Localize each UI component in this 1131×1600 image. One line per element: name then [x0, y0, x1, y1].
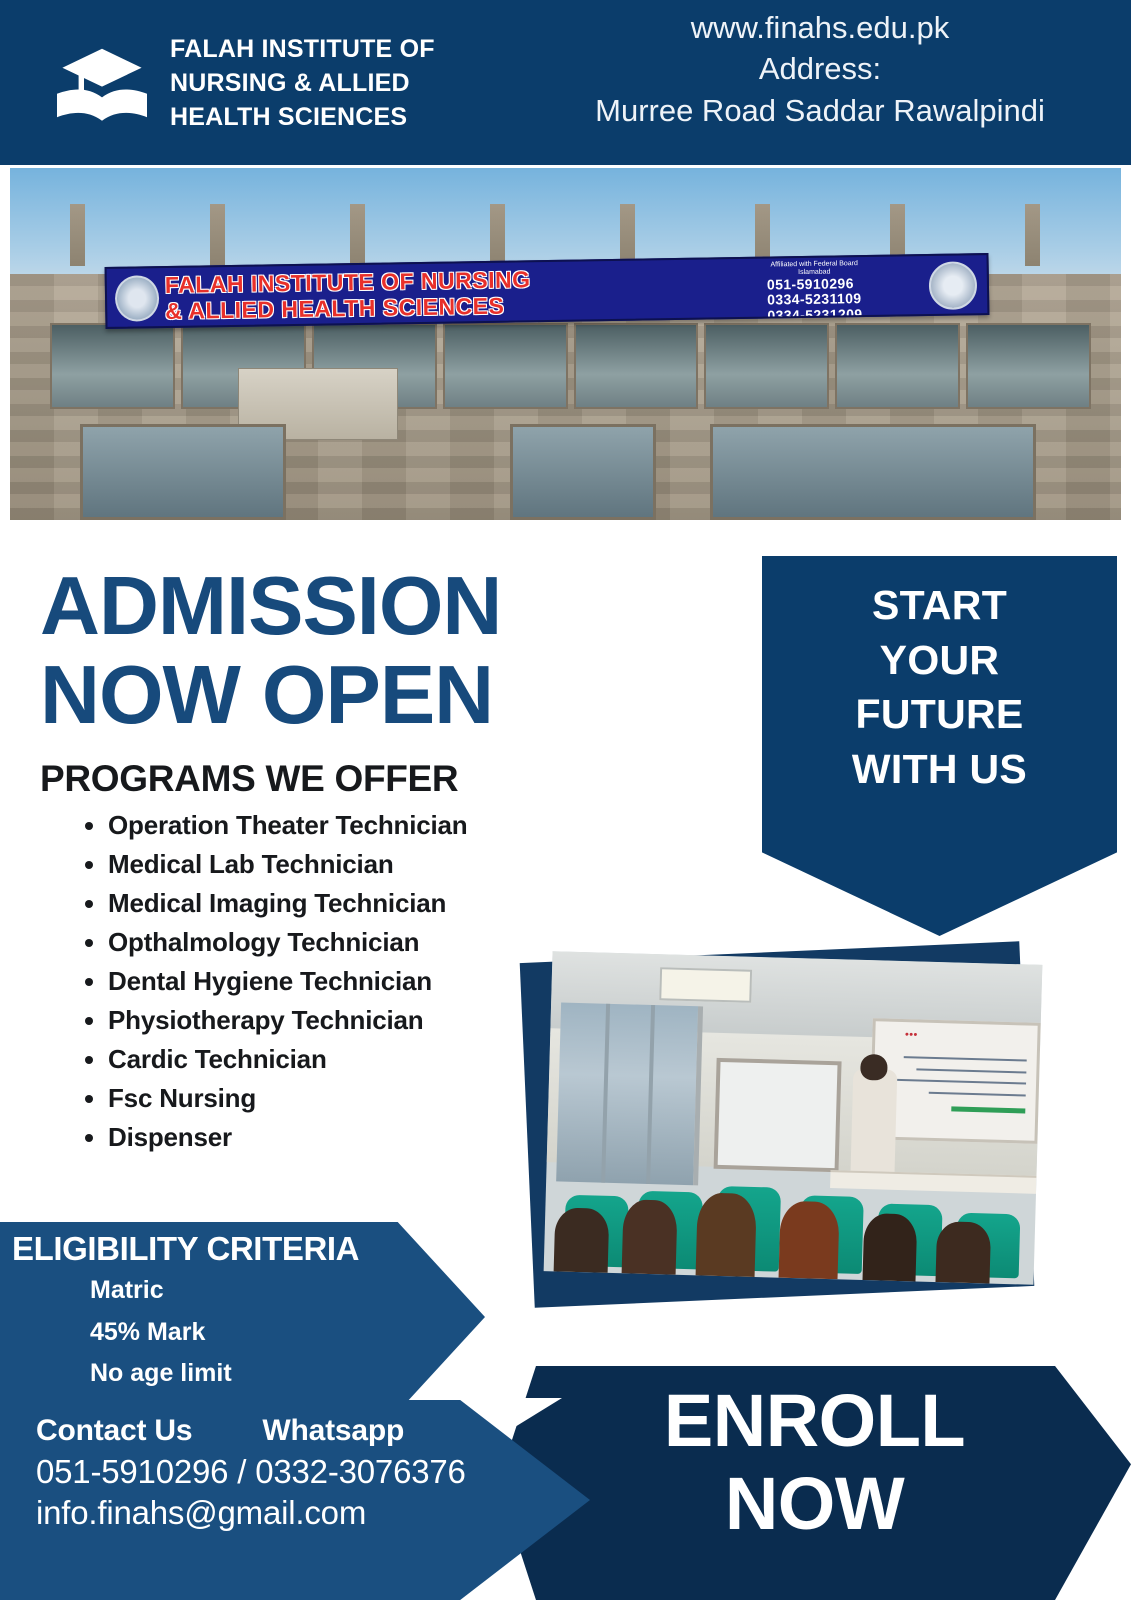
enroll-line-2: NOW: [498, 1463, 1131, 1546]
admission-title-line-1: ADMISSION: [40, 559, 501, 652]
eligibility-item: Matric: [90, 1270, 485, 1312]
pennant-line-2: YOUR: [762, 633, 1117, 688]
ground-floor-shopfront: [710, 424, 1036, 520]
attendee: [622, 1200, 678, 1275]
slide-chart-bar: [951, 1106, 1025, 1113]
window-pane: [50, 323, 175, 409]
window-pane: [966, 323, 1091, 409]
admission-title: ADMISSION NOW OPEN: [40, 562, 680, 740]
window-pane: [443, 323, 568, 409]
roof-pillar: [620, 204, 635, 266]
contact-email[interactable]: info.finahs@gmail.com: [36, 1494, 590, 1532]
window-pane: [835, 323, 960, 409]
header-contact-block: www.finahs.edu.pk Address: Murree Road S…: [520, 8, 1120, 132]
programs-heading: PROGRAMS WE OFFER: [40, 758, 680, 800]
whatsapp-label: Whatsapp: [262, 1414, 404, 1448]
roof-pillar: [490, 204, 505, 266]
attendee: [779, 1201, 840, 1279]
attendee: [695, 1192, 756, 1277]
contact-phone-numbers[interactable]: 051-5910296 / 0332-3076376: [36, 1453, 590, 1491]
window-pane: [704, 323, 829, 409]
building-photo: FALAH INSTITUTE OF NURSING & ALLIED HEAL…: [10, 168, 1121, 520]
window-region: [556, 1003, 703, 1186]
window-mullion: [646, 1005, 655, 1184]
roof-pillar: [70, 204, 85, 266]
whiteboard: [713, 1058, 842, 1172]
attendee: [862, 1213, 918, 1282]
attendee: [553, 1207, 609, 1272]
signboard-logo-icon: [115, 275, 160, 322]
slide-text-line: [917, 1068, 1027, 1073]
list-item: Medical Lab Technician: [108, 845, 680, 884]
contact-us-label: Contact Us: [36, 1414, 192, 1448]
enroll-now-banner[interactable]: ENROLL NOW: [498, 1366, 1131, 1600]
enroll-line-1: ENROLL: [498, 1380, 1131, 1463]
roof-pillar: [350, 204, 365, 266]
pennant-line-4: WITH US: [762, 742, 1117, 797]
attendee: [935, 1221, 991, 1283]
presenter-figure: [850, 1068, 897, 1178]
window-mullion: [601, 1004, 610, 1183]
roof-pillar: [210, 204, 225, 266]
institute-name-line-1: FALAH INSTITUTE OF: [170, 32, 435, 66]
ground-floor-shopfront: [510, 424, 656, 520]
eligibility-criteria-banner: ELIGIBILITY CRITERIA Matric 45% Mark No …: [0, 1222, 485, 1412]
institute-name-line-3: HEALTH SCIENCES: [170, 100, 435, 134]
window-pane: [574, 323, 699, 409]
eligibility-item: No age limit: [90, 1353, 485, 1395]
address-label: Address:: [520, 48, 1120, 90]
presenter-head: [860, 1054, 888, 1080]
brand-block: FALAH INSTITUTE OF NURSING & ALLIED HEAL…: [48, 32, 518, 134]
admission-title-line-2: NOW OPEN: [40, 648, 493, 741]
slide-text-line: [904, 1056, 1027, 1061]
slide-text-line: [929, 1091, 1026, 1096]
list-item: Operation Theater Technician: [108, 806, 680, 845]
address-text: Murree Road Saddar Rawalpindi: [520, 90, 1120, 132]
eligibility-list: Matric 45% Mark No age limit: [90, 1270, 485, 1395]
pennant-line-3: FUTURE: [762, 687, 1117, 742]
ceiling-light: [659, 967, 752, 1002]
graduation-cap-book-icon: [48, 37, 156, 129]
page-header: FALAH INSTITUTE OF NURSING & ALLIED HEAL…: [0, 0, 1131, 165]
window-row-upper: [50, 323, 1091, 409]
ground-floor-shopfront: [80, 424, 286, 520]
institute-name: FALAH INSTITUTE OF NURSING & ALLIED HEAL…: [170, 32, 435, 134]
signboard-main-text: FALAH INSTITUTE OF NURSING & ALLIED HEAL…: [165, 263, 756, 324]
institute-name-line-2: NURSING & ALLIED: [170, 66, 435, 100]
classroom-photo: ●●●: [544, 951, 1043, 1285]
signboard-side-info: Affiliated with Federal Board Islamabad …: [767, 260, 863, 324]
signboard-seal-icon: [929, 261, 978, 310]
slide-title-text: ●●●: [905, 1031, 918, 1038]
start-your-future-banner: START YOUR FUTURE WITH US: [762, 556, 1117, 936]
eligibility-item: 45% Mark: [90, 1312, 485, 1354]
list-item: Medical Imaging Technician: [108, 884, 680, 923]
pennant-line-1: START: [762, 578, 1117, 633]
roof-pillar: [1025, 204, 1040, 266]
website-text[interactable]: www.finahs.edu.pk: [520, 8, 1120, 48]
eligibility-title: ELIGIBILITY CRITERIA: [12, 1230, 485, 1268]
slide-text-line: [897, 1079, 1026, 1085]
